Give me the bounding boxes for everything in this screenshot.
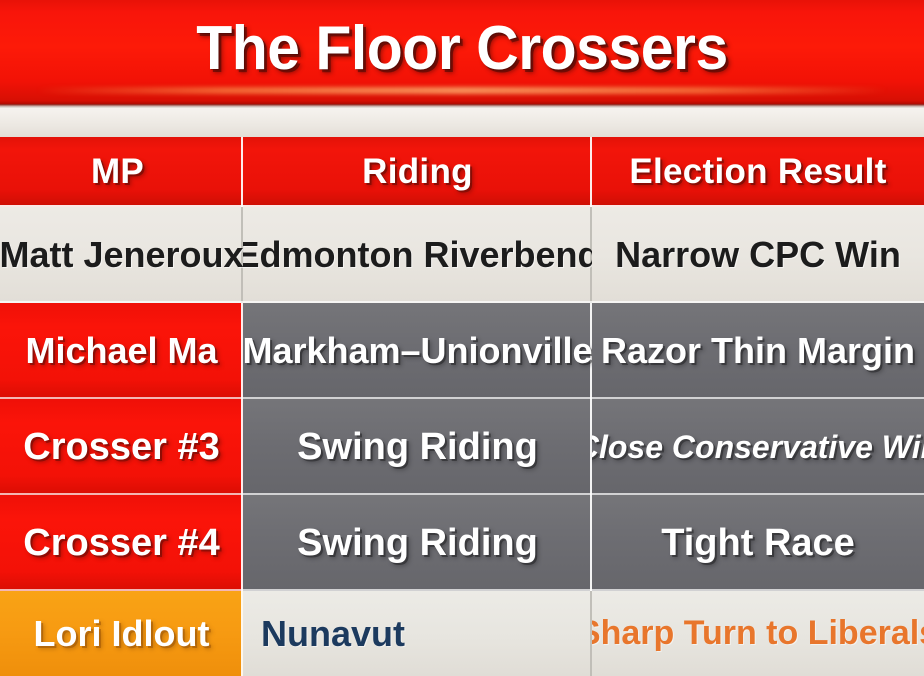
cell-riding: Swing Riding <box>243 495 592 591</box>
column-header-mp: MP <box>0 137 243 207</box>
title-banner: The Floor Crossers <box>0 0 924 104</box>
cell-mp: Crosser #4 <box>0 495 243 591</box>
table-row: Matt Jeneroux Edmonton Riverbend Narrow … <box>0 207 924 303</box>
table-row: Crosser #3 Swing Riding Close Conservati… <box>0 399 924 495</box>
cell-riding: Swing Riding <box>243 399 592 495</box>
cell-election-result: Tight Race <box>592 495 924 591</box>
cell-riding: Nunavut <box>243 591 592 676</box>
broadcast-graphic-screen: The Floor Crossers MP Riding Election Re… <box>0 0 924 676</box>
cell-election-result: Close Conservative Win <box>592 399 924 495</box>
cell-election-result: Sharp Turn to Liberals <box>592 591 924 676</box>
table-row: Crosser #4 Swing Riding Tight Race <box>0 495 924 591</box>
cell-election-result: Razor Thin Margin <box>592 303 924 399</box>
cell-mp: Crosser #3 <box>0 399 243 495</box>
cell-mp: Matt Jeneroux <box>0 207 243 303</box>
table-row: Lori Idlout Nunavut Sharp Turn to Libera… <box>0 591 924 676</box>
banner-gap-strip <box>0 108 924 137</box>
table-header-row: MP Riding Election Result <box>0 137 924 207</box>
floor-crossers-table: MP Riding Election Result Matt Jeneroux … <box>0 137 924 676</box>
cell-mp: Lori Idlout <box>0 591 243 676</box>
cell-mp: Michael Ma <box>0 303 243 399</box>
page-title: The Floor Crossers <box>23 6 901 92</box>
cell-riding: Markham–Unionville <box>243 303 592 399</box>
cell-riding: Edmonton Riverbend <box>243 207 592 303</box>
column-header-riding: Riding <box>243 137 592 207</box>
table-row: Michael Ma Markham–Unionville Razor Thin… <box>0 303 924 399</box>
cell-election-result: Narrow CPC Win <box>592 207 924 303</box>
column-header-election-result: Election Result <box>592 137 924 207</box>
